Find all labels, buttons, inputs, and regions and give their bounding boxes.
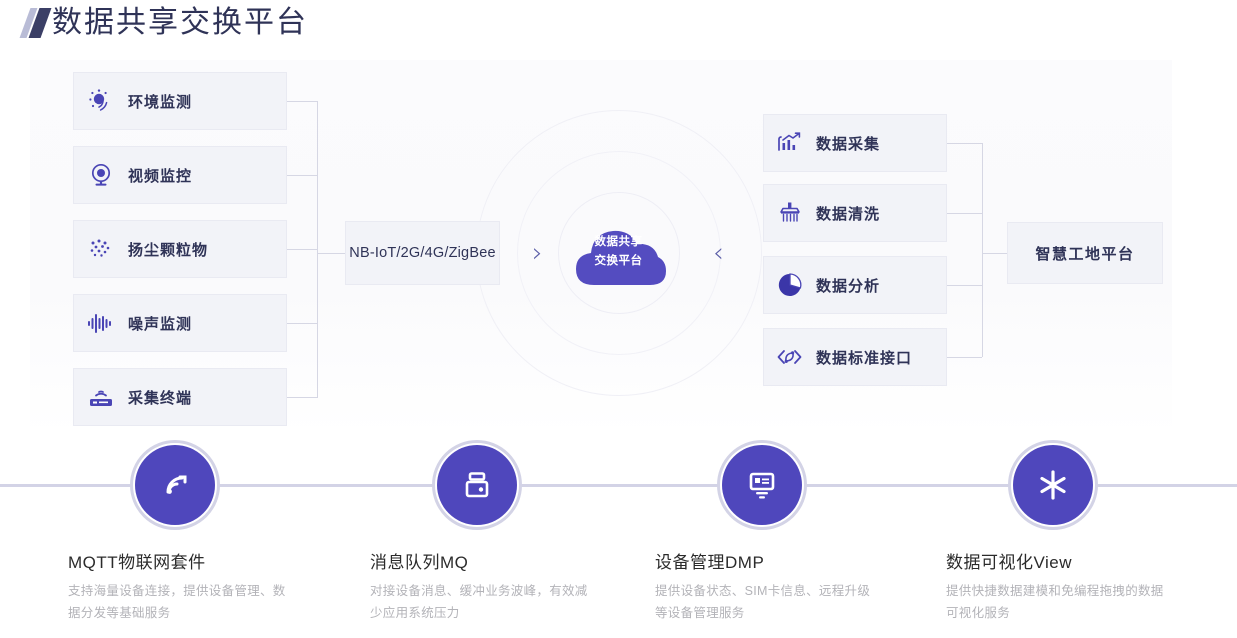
feature-title: 设备管理DMP [655, 548, 955, 573]
service-card-label: 数据清洗 [816, 203, 880, 224]
source-card-label: 扬尘颗粒物 [128, 239, 208, 260]
feature-title: 消息队列MQ [370, 548, 670, 573]
dust-particles-icon [74, 236, 128, 262]
feature-icon-bubble [437, 445, 517, 525]
feature-description: 提供快捷数据建模和免编程拖拽的数据可视化服务 [946, 580, 1164, 624]
source-card-video[interactable]: 视频监控 [73, 146, 287, 204]
chevron-right-icon: › [532, 240, 543, 267]
feature-icon-bubble [722, 445, 802, 525]
environment-sensor-icon [74, 88, 128, 114]
message-box-icon [460, 468, 494, 502]
source-card-label: 噪声监测 [128, 313, 192, 334]
bar-chart-up-icon [764, 130, 816, 156]
feature-description: 支持海量设备连接，提供设备管理、数据分发等基础服务 [68, 580, 286, 624]
service-card-label: 数据采集 [816, 133, 880, 154]
chevron-left-icon: ‹ [713, 240, 724, 267]
connector-left-2 [287, 175, 317, 176]
service-card-label: 数据分析 [816, 275, 880, 296]
cloud-label: 数据共享 交换平台 [564, 233, 674, 271]
page-root: 数据共享交换平台 数据共享 交换平台 › ‹ [0, 0, 1237, 638]
connector-left-spine [317, 101, 318, 398]
smart-site-platform-box[interactable]: 智慧工地平台 [1007, 222, 1163, 284]
source-card-noise[interactable]: 噪声监测 [73, 294, 287, 352]
connector-right-3 [947, 285, 982, 286]
central-cloud-node: 数据共享 交换平台 [564, 215, 674, 291]
gateway-terminal-icon [74, 384, 128, 410]
cloud-label-line1: 数据共享 [564, 233, 674, 252]
signal-wave-icon [158, 468, 192, 502]
pie-chart-icon [764, 272, 816, 298]
feature-description: 对接设备消息、缓冲业务波峰，有效减少应用系统压力 [370, 580, 588, 624]
network-protocol-label: NB-IoT/2G/4G/ZigBee [349, 245, 495, 261]
source-card-label: 采集终端 [128, 387, 192, 408]
connector-left-4 [287, 323, 317, 324]
network-protocol-box[interactable]: NB-IoT/2G/4G/ZigBee [345, 221, 500, 285]
connector-right-2 [947, 213, 982, 214]
connector-right-spine [982, 143, 983, 357]
connector-right-1 [947, 143, 982, 144]
architecture-diagram: 数据共享 交换平台 › ‹ 环境监测 [0, 0, 1237, 440]
service-card-analyze[interactable]: 数据分析 [763, 256, 947, 314]
connector-right-4 [947, 357, 982, 358]
smart-site-platform-label: 智慧工地平台 [1035, 243, 1134, 264]
source-card-dust[interactable]: 扬尘颗粒物 [73, 220, 287, 278]
connector-left-3 [287, 249, 317, 250]
video-camera-icon [74, 162, 128, 188]
feature-title: MQTT物联网套件 [68, 548, 368, 573]
sound-wave-icon [74, 310, 128, 336]
source-card-label: 视频监控 [128, 165, 192, 186]
source-card-label: 环境监测 [128, 91, 192, 112]
connector-right-to-platform [982, 253, 1007, 254]
feature-description: 提供设备状态、SIM卡信息、远程升级等设备管理服务 [655, 580, 873, 624]
service-card-standard-api[interactable]: 数据标准接口 [763, 328, 947, 386]
connector-left-1 [287, 101, 317, 102]
feature-title: 数据可视化View [946, 548, 1237, 573]
service-card-clean[interactable]: 数据清洗 [763, 184, 947, 242]
service-card-label: 数据标准接口 [816, 347, 912, 368]
connector-left-to-network [317, 253, 345, 254]
device-monitor-icon [745, 468, 779, 502]
service-card-collect[interactable]: 数据采集 [763, 114, 947, 172]
feature-icon-bubble [1013, 445, 1093, 525]
source-card-terminal[interactable]: 采集终端 [73, 368, 287, 426]
brush-icon [764, 200, 816, 226]
asterisk-icon [1035, 467, 1071, 503]
feature-icon-bubble [135, 445, 215, 525]
cloud-label-line2: 交换平台 [564, 252, 674, 271]
code-nodes-icon [764, 344, 816, 370]
connector-left-5 [287, 397, 317, 398]
source-card-environment[interactable]: 环境监测 [73, 72, 287, 130]
